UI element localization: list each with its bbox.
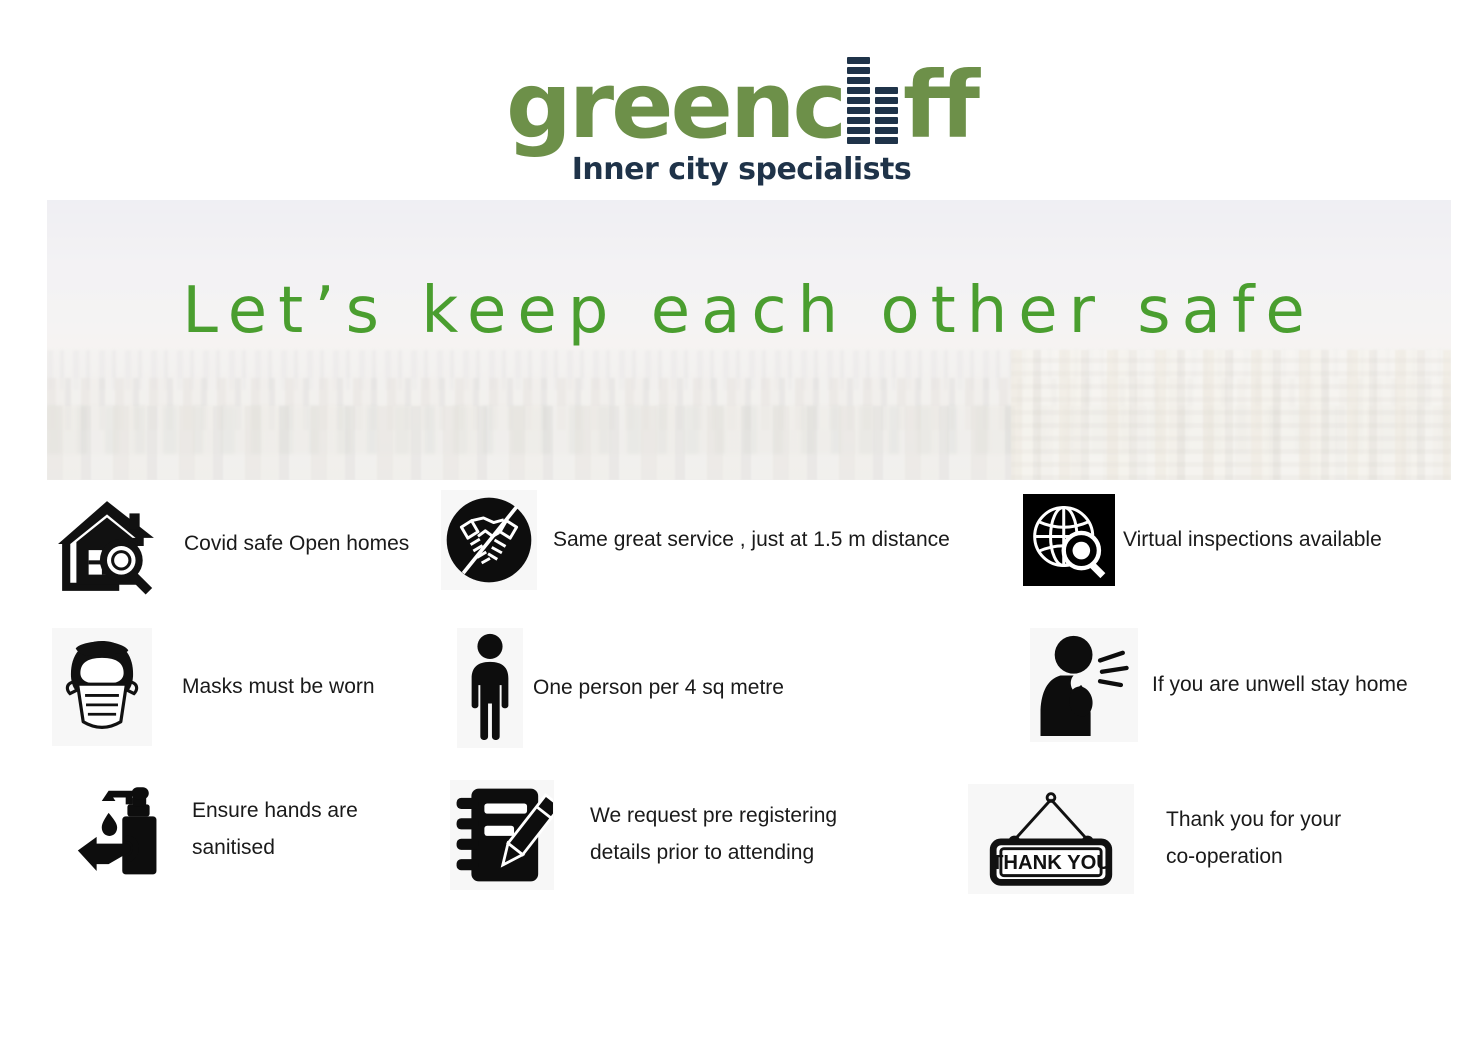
notepad-pencil-icon [450,780,554,890]
logo-tagline: Inner city specialists [572,152,911,187]
list-item: Masks must be worn [52,628,375,746]
thank-you-sign-text: THANK YOU [991,852,1111,874]
cityscape-banner: Let’s keep each other safe [47,200,1451,480]
globe-magnifier-icon [1023,494,1115,586]
banner-headline: Let’s keep each other safe [47,274,1451,348]
list-item-label: If you are unwell stay home [1152,667,1408,704]
list-item: Virtual inspections available [1023,494,1382,586]
list-item-label: One person per 4 sq metre [533,670,784,707]
building-towers-icon [847,57,898,144]
list-item-label: Thank you for your co-operation [1166,802,1341,876]
standing-person-icon [457,628,523,748]
list-item: We request pre registering details prior… [450,780,837,890]
hand-sanitiser-icon [70,776,166,884]
logo-text-c: c [792,62,844,150]
list-item-label: Virtual inspections available [1123,522,1382,559]
list-item: THANK YOU Thank you for your co-operatio… [968,784,1341,894]
thank-you-sign-icon: THANK YOU [968,784,1134,894]
list-item-label: Same great service , just at 1.5 m dista… [553,522,950,559]
house-magnifier-icon [52,490,162,598]
coughing-person-icon [1030,628,1138,742]
logo-wordmark: green c ff [506,58,977,150]
logo-text-green: green [506,62,793,150]
masked-face-icon [52,628,152,746]
no-handshake-icon [441,490,537,590]
logo-text-ff: ff [903,62,977,150]
list-item: One person per 4 sq metre [457,628,784,748]
list-item-label: Masks must be worn [182,669,375,706]
list-item-label: Covid safe Open homes [184,526,409,563]
list-item: Ensure hands are sanitised [70,776,358,884]
list-item-label: Ensure hands are sanitised [192,793,358,867]
list-item-label: We request pre registering details prior… [590,798,837,872]
brand-logo: green c ff Inner city specialists [0,58,1483,188]
list-item: If you are unwell stay home [1030,628,1408,742]
safety-measures-grid: Covid safe Open homes [0,488,1483,918]
list-item: Same great service , just at 1.5 m dista… [441,490,950,590]
list-item: Covid safe Open homes [52,490,409,598]
